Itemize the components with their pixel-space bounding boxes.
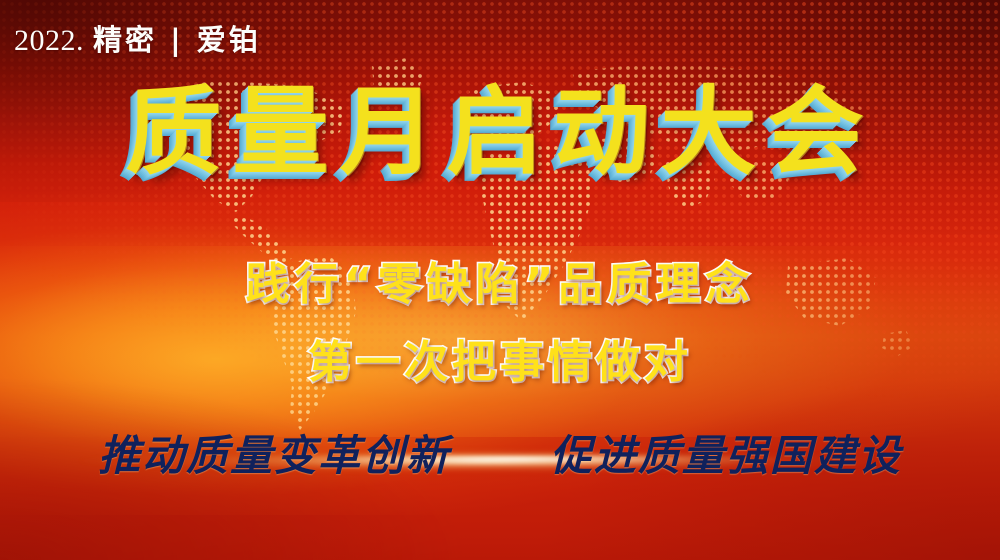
poster-headline: 质量月启动大会 xyxy=(0,78,1000,186)
brand-year: 2022. xyxy=(14,24,84,58)
poster-canvas: 2022. 精密 | 爱铂 质量月启动大会 践行“零缺陷”品质理念 第一次把事情… xyxy=(0,0,1000,560)
text-layer: 2022. 精密 | 爱铂 质量月启动大会 践行“零缺陷”品质理念 第一次把事情… xyxy=(0,0,1000,560)
brand-company-name: 精密 | 爱铂 xyxy=(93,17,261,59)
poster-slogan-primary: 践行“零缺陷”品质理念 xyxy=(0,257,1000,313)
brand-lockup: 2022. 精密 | 爱铂 xyxy=(14,17,261,59)
poster-tagline: 推动质量变革创新 促进质量强国建设 xyxy=(0,428,1000,484)
poster-slogan-secondary: 第一次把事情做对 xyxy=(0,335,1000,391)
